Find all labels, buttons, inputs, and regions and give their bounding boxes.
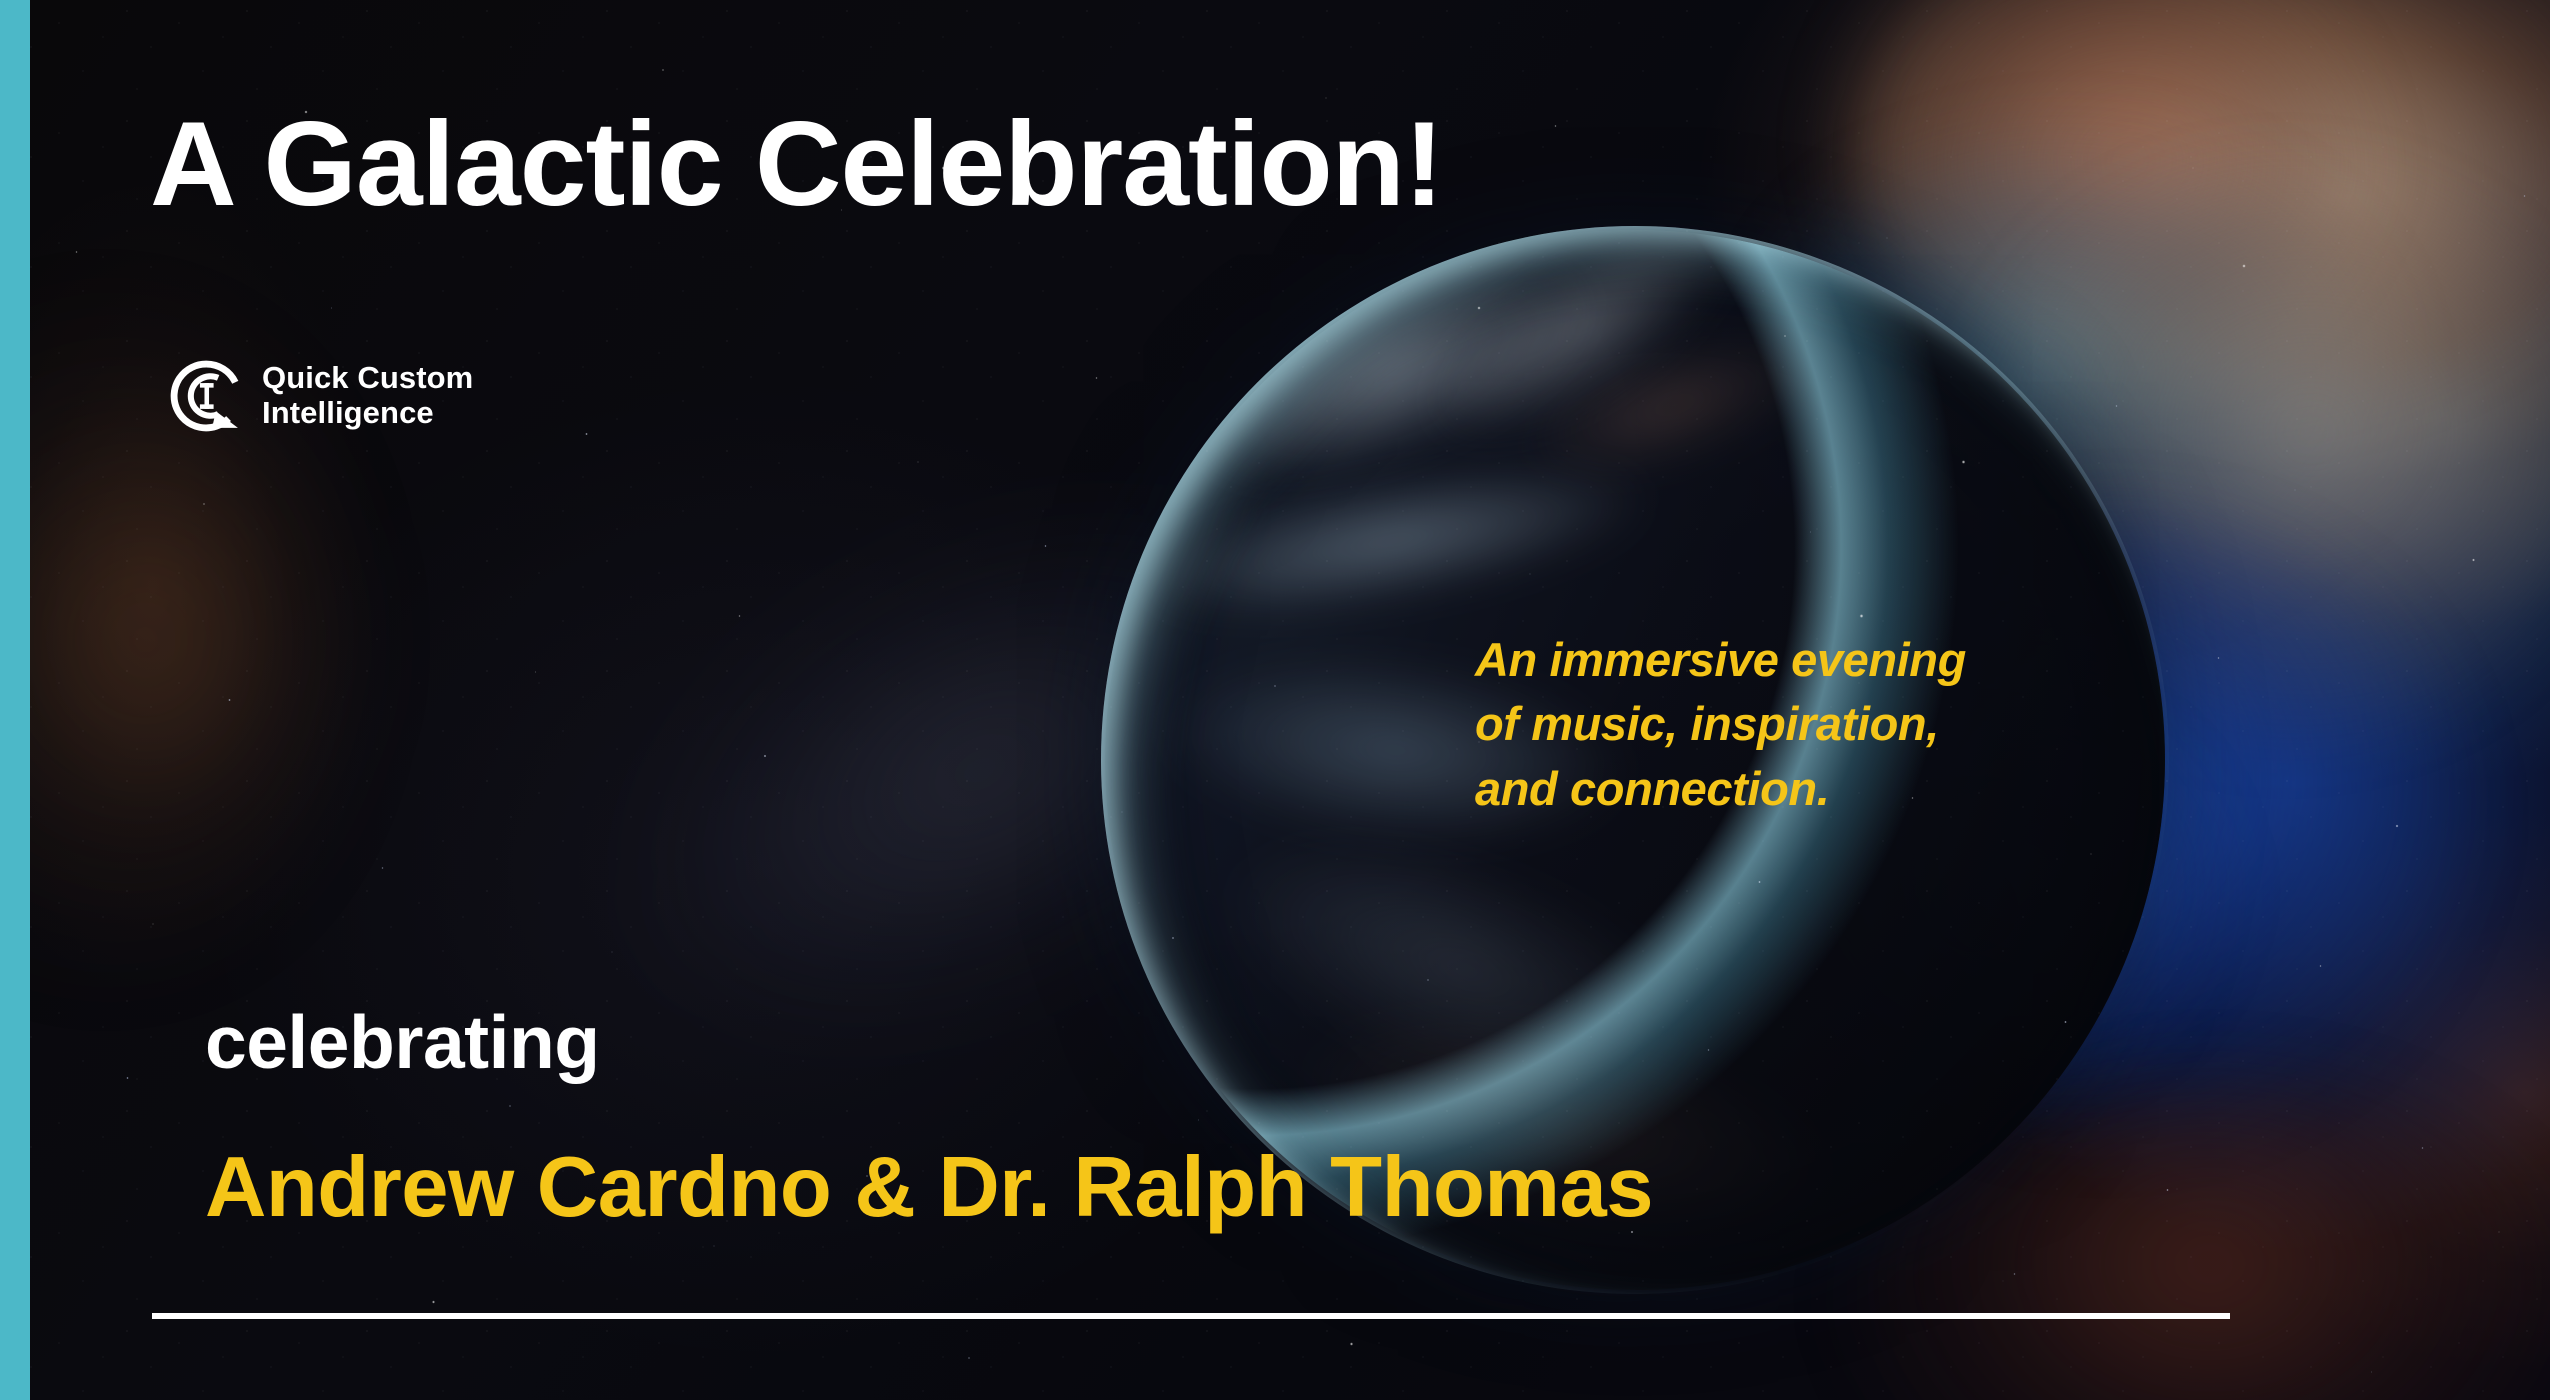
honoree-names: Andrew Cardno & Dr. Ralph Thomas	[205, 1145, 1653, 1230]
banner-content: A Galactic Celebration! Qu	[0, 0, 2550, 1400]
quick-custom-intelligence-logo-icon	[168, 358, 244, 434]
brand-name-line-1: Quick Custom	[262, 360, 473, 395]
galactic-celebration-banner: A Galactic Celebration! Qu	[0, 0, 2550, 1400]
brand-logo-lockup: Quick Custom Intelligence	[168, 358, 473, 434]
brand-name-line-2: Intelligence	[262, 395, 434, 430]
page-title: A Galactic Celebration!	[150, 104, 1443, 224]
bottom-divider-rule	[152, 1313, 2230, 1319]
event-tagline: An immersive evening of music, inspirati…	[1475, 628, 1966, 821]
celebrating-label: celebrating	[205, 1005, 600, 1080]
brand-name: Quick Custom Intelligence	[262, 361, 473, 430]
